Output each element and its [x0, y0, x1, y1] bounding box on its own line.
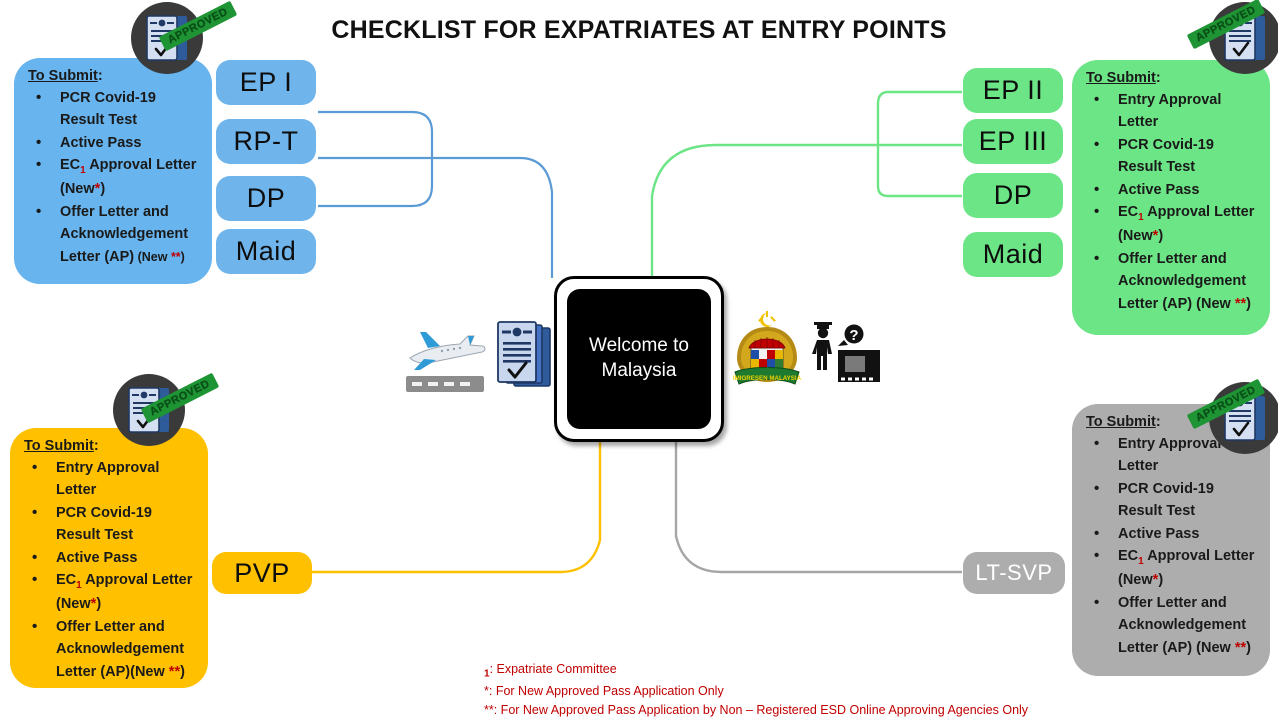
- requirements-list: Entry Approval Letter PCR Covid-19 Resul…: [1084, 89, 1258, 316]
- footnote-1: 1: Expatriate Committee: [484, 660, 1184, 682]
- pass-pill-ep-ii[interactable]: EP II: [963, 68, 1063, 113]
- approved-stamp-bottom-right: APPROVED: [1200, 378, 1278, 464]
- list-item: EC1 Approval Letter (New*): [1084, 545, 1258, 592]
- approved-stamp-bottom-left: APPROVED: [104, 370, 190, 456]
- requirements-list: Entry Approval Letter PCR Covid-19 Resul…: [1084, 433, 1258, 660]
- list-item: Offer Letter and Acknowledgement Letter …: [22, 616, 196, 683]
- list-item: PCR Covid-19 Result Test: [1084, 134, 1258, 179]
- malaysia-immigration-emblem-icon: IMIGRESEN MALAYSIA: [731, 310, 803, 397]
- documents-stack-icon: [494, 320, 556, 401]
- airplane-runway-icon: [398, 318, 490, 401]
- pass-pill-rp-t[interactable]: RP-T: [216, 119, 316, 164]
- list-item: PCR Covid-19 Result Test: [1084, 478, 1258, 523]
- welcome-sign: Welcome to Malaysia: [554, 276, 724, 442]
- pass-pill-ep-iii[interactable]: EP III: [963, 119, 1063, 164]
- pass-label: RP-T: [234, 126, 299, 157]
- panel-top-right: To Submit: Entry Approval Letter PCR Cov…: [1072, 60, 1270, 335]
- list-item: Offer Letter and Acknowledgement Letter …: [1084, 248, 1258, 315]
- pass-label: PVP: [234, 558, 290, 589]
- pass-pill-dp-left[interactable]: DP: [216, 176, 316, 221]
- list-item: Offer Letter and Acknowledgement Letter …: [1084, 592, 1258, 659]
- panel-heading-colon: :: [1156, 414, 1161, 430]
- list-item: PCR Covid-19 Result Test: [22, 502, 196, 547]
- panel-heading-colon: :: [1156, 70, 1161, 86]
- pass-label: EP II: [983, 75, 1044, 106]
- welcome-line-1: Welcome to: [589, 335, 689, 356]
- list-item: EC1 Approval Letter (New*): [22, 569, 196, 616]
- pass-label: EP I: [240, 67, 293, 98]
- approved-stamp-top-right: APPROVED: [1200, 0, 1278, 84]
- pass-label: DP: [247, 183, 286, 214]
- panel-heading-text: To Submit: [1086, 70, 1156, 86]
- pass-label: EP III: [979, 126, 1048, 157]
- footnote-2: *: For New Approved Pass Application Onl…: [484, 682, 1184, 701]
- list-item: EC1 Approval Letter (New*): [26, 154, 200, 201]
- pass-label: Maid: [236, 236, 297, 267]
- pass-label: DP: [994, 180, 1033, 211]
- welcome-line-2: Malaysia: [602, 360, 677, 381]
- welcome-sign-text: Welcome to Malaysia: [567, 289, 711, 429]
- pass-label: LT-SVP: [975, 560, 1052, 586]
- svg-text:IMIGRESEN MALAYSIA: IMIGRESEN MALAYSIA: [733, 375, 802, 382]
- footnotes: 1: Expatriate Committee *: For New Appro…: [484, 660, 1184, 721]
- list-item: Active Pass: [1084, 523, 1258, 545]
- panel-heading-text: To Submit: [28, 68, 98, 84]
- pass-label: Maid: [983, 239, 1044, 270]
- svg-text:?: ?: [849, 327, 858, 344]
- list-item: Offer Letter and Acknowledgement Letter …: [26, 201, 200, 268]
- panel-bottom-left: To Submit: Entry Approval Letter PCR Cov…: [10, 428, 208, 688]
- requirements-list: PCR Covid-19 Result Test Active Pass EC1…: [26, 87, 200, 269]
- list-item: EC1 Approval Letter (New*): [1084, 201, 1258, 248]
- panel-heading-text: To Submit: [1086, 414, 1156, 430]
- pass-pill-ep-i[interactable]: EP I: [216, 60, 316, 105]
- pass-pill-maid-right[interactable]: Maid: [963, 232, 1063, 277]
- requirements-list: Entry Approval Letter PCR Covid-19 Resul…: [22, 457, 196, 684]
- panel-top-left: To Submit: PCR Covid-19 Result Test Acti…: [14, 58, 212, 284]
- pass-pill-pvp[interactable]: PVP: [212, 552, 312, 594]
- immigration-officer-counter-icon: ?: [808, 316, 882, 393]
- pass-pill-maid-left[interactable]: Maid: [216, 229, 316, 274]
- footnote-3: **: For New Approved Pass Application by…: [484, 701, 1184, 720]
- pass-pill-lt-svp[interactable]: LT-SVP: [963, 552, 1065, 594]
- approved-stamp-top-left: APPROVED: [122, 0, 208, 84]
- list-item: Entry Approval Letter: [22, 457, 196, 502]
- panel-heading-colon: :: [98, 68, 103, 84]
- panel-heading-colon: :: [94, 438, 99, 454]
- list-item: Active Pass: [26, 132, 200, 154]
- list-item: Active Pass: [22, 547, 196, 569]
- list-item: Active Pass: [1084, 179, 1258, 201]
- list-item: Entry Approval Letter: [1084, 89, 1258, 134]
- pass-pill-dp-right[interactable]: DP: [963, 173, 1063, 218]
- list-item: PCR Covid-19 Result Test: [26, 87, 200, 132]
- panel-heading-text: To Submit: [24, 438, 94, 454]
